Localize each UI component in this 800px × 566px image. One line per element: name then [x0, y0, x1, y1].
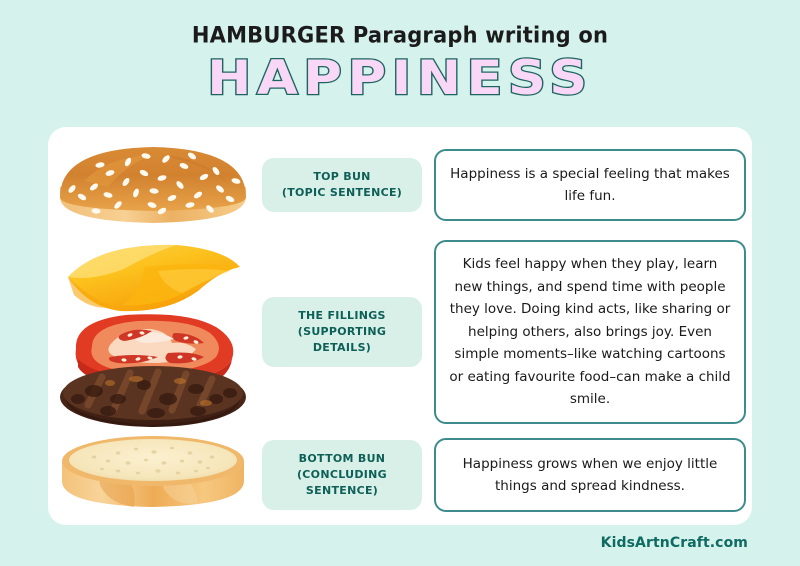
- label-cell-bottom-bun: BOTTOM BUN (CONCLUDING SENTENCE): [258, 440, 426, 510]
- label-pill-top-bun: TOP BUN (TOPIC SENTENCE): [262, 158, 422, 212]
- text-cell-fillings: Kids feel happy when they play, learn ne…: [426, 240, 752, 424]
- section-row-top-bun: TOP BUN (TOPIC SENTENCE) Happiness is a …: [48, 135, 752, 235]
- label-pill-fillings: THE FILLINGS (SUPPORTING DETAILS): [262, 297, 422, 367]
- page-title-line2: HAPPINESS: [0, 52, 800, 106]
- text-box-bottom-bun: Happiness grows when we enjoy little thi…: [434, 438, 746, 512]
- text-box-top-bun: Happiness is a special feeling that make…: [434, 149, 746, 221]
- label-line: TOP BUN: [272, 169, 412, 185]
- text-cell-top-bun: Happiness is a special feeling that make…: [426, 149, 752, 221]
- label-line: DETAILS): [272, 340, 412, 356]
- page-header: HAMBURGER Paragraph writing on HAPPINESS: [0, 22, 800, 106]
- section-row-bottom-bun: BOTTOM BUN (CONCLUDING SENTENCE) Happine…: [48, 429, 752, 521]
- label-cell-fillings: THE FILLINGS (SUPPORTING DETAILS): [258, 297, 426, 367]
- cheese-slice-icon: [68, 245, 240, 311]
- illustration-bottom-bun: [48, 429, 258, 521]
- page-title-line1: HAMBURGER Paragraph writing on: [0, 21, 800, 49]
- content-card: TOP BUN (TOPIC SENTENCE) Happiness is a …: [48, 127, 752, 525]
- label-cell-top-bun: TOP BUN (TOPIC SENTENCE): [258, 158, 426, 212]
- text-cell-bottom-bun: Happiness grows when we enjoy little thi…: [426, 438, 752, 512]
- text-box-fillings: Kids feel happy when they play, learn ne…: [434, 240, 746, 424]
- fillings-icon-group: [48, 237, 258, 427]
- beef-patty-icon: [60, 366, 246, 427]
- bottom-bun-icon: [48, 429, 258, 521]
- label-pill-bottom-bun: BOTTOM BUN (CONCLUDING SENTENCE): [262, 440, 422, 510]
- illustration-top-bun: [48, 135, 258, 235]
- label-line: BOTTOM BUN: [272, 451, 412, 467]
- label-line: SENTENCE): [272, 483, 412, 499]
- sesame-top-bun-icon: [48, 135, 258, 235]
- site-watermark: KidsArtnCraft.com: [601, 535, 748, 551]
- label-line: THE FILLINGS: [272, 308, 412, 324]
- label-line: (TOPIC SENTENCE): [272, 185, 412, 201]
- section-row-fillings: THE FILLINGS (SUPPORTING DETAILS) Kids f…: [48, 237, 752, 427]
- illustration-fillings: [48, 237, 258, 427]
- label-line: (CONCLUDING: [272, 467, 412, 483]
- label-line: (SUPPORTING: [272, 324, 412, 340]
